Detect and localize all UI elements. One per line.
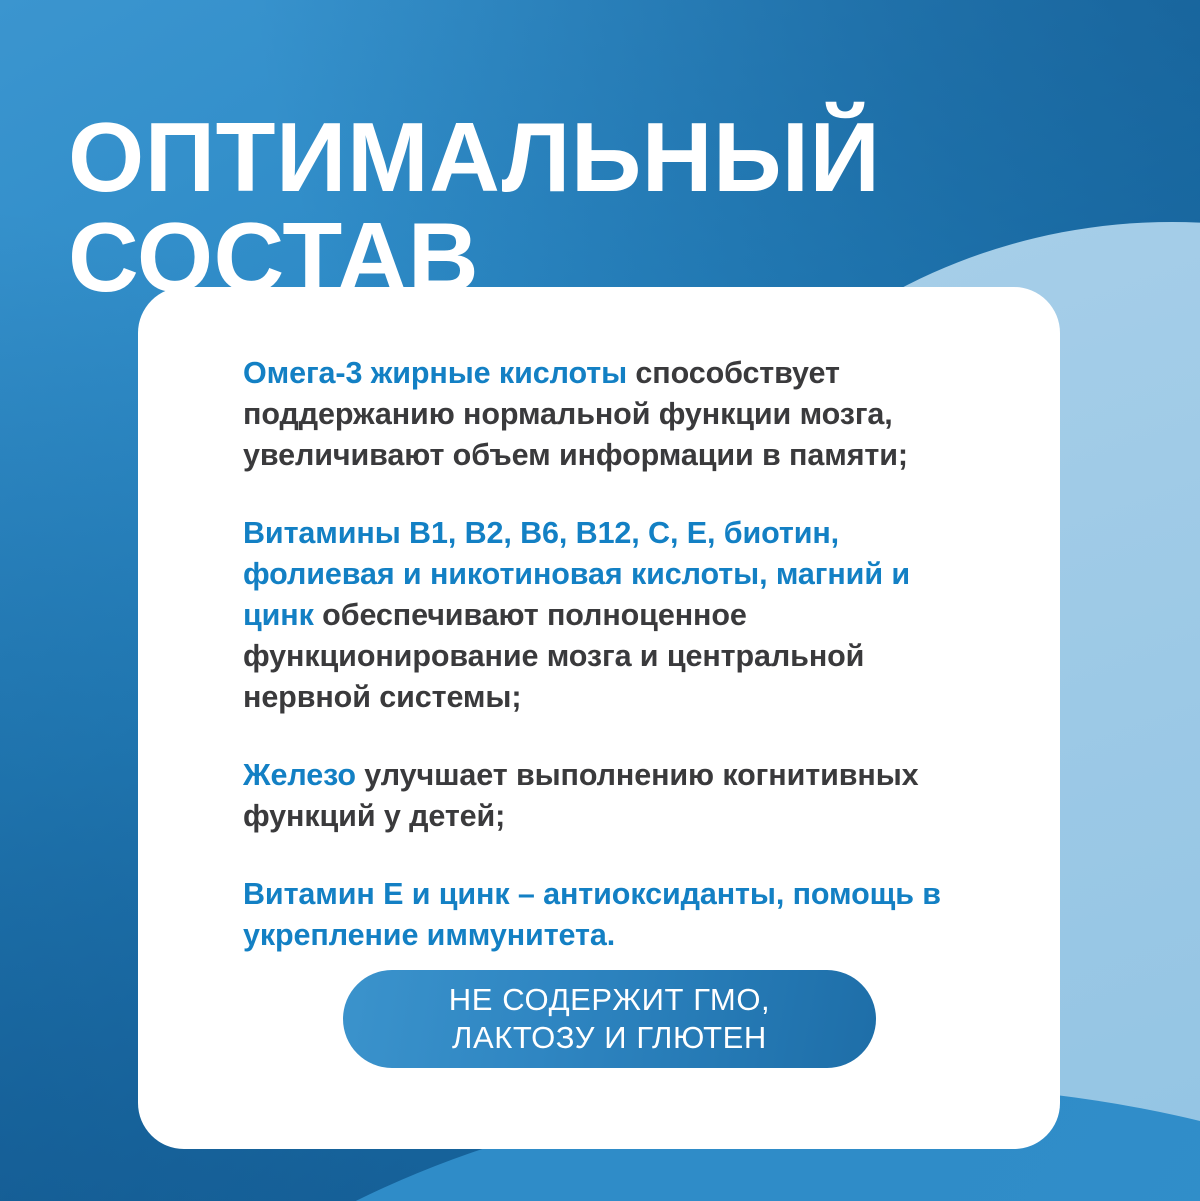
ingredient-name-vitamin-e-zinc: Витамин Е и цинк – антиоксиданты, помощь… [243, 877, 941, 952]
content-card: Омега-3 жирные кислоты способствует подд… [138, 287, 1060, 1149]
page-title: Оптимальный состав [68, 108, 1068, 308]
ingredient-name-omega-3: Омега-3 жирные кислоты [243, 356, 627, 390]
poster-root: Оптимальный состав Омега-3 жирные кислот… [0, 0, 1200, 1201]
ingredient-benefit-vitamins: обеспечивают полноценное функционировани… [243, 598, 864, 714]
list-item: Омега-3 жирные кислоты способствует подд… [243, 353, 973, 476]
list-item: Железо улучшает выполнению когнитивных ф… [243, 755, 973, 837]
ingredient-name-iron: Железо [243, 758, 356, 792]
ingredient-list: Омега-3 жирные кислоты способствует подд… [243, 353, 973, 956]
list-item: Витамины В1, В2, В6, В12, С, Е, биотин, … [243, 513, 973, 718]
no-gmo-lactose-gluten-badge-button[interactable]: Не содержит ГМО, лактозу и глютен [343, 970, 876, 1068]
list-item: Витамин Е и цинк – антиоксиданты, помощь… [243, 874, 973, 956]
